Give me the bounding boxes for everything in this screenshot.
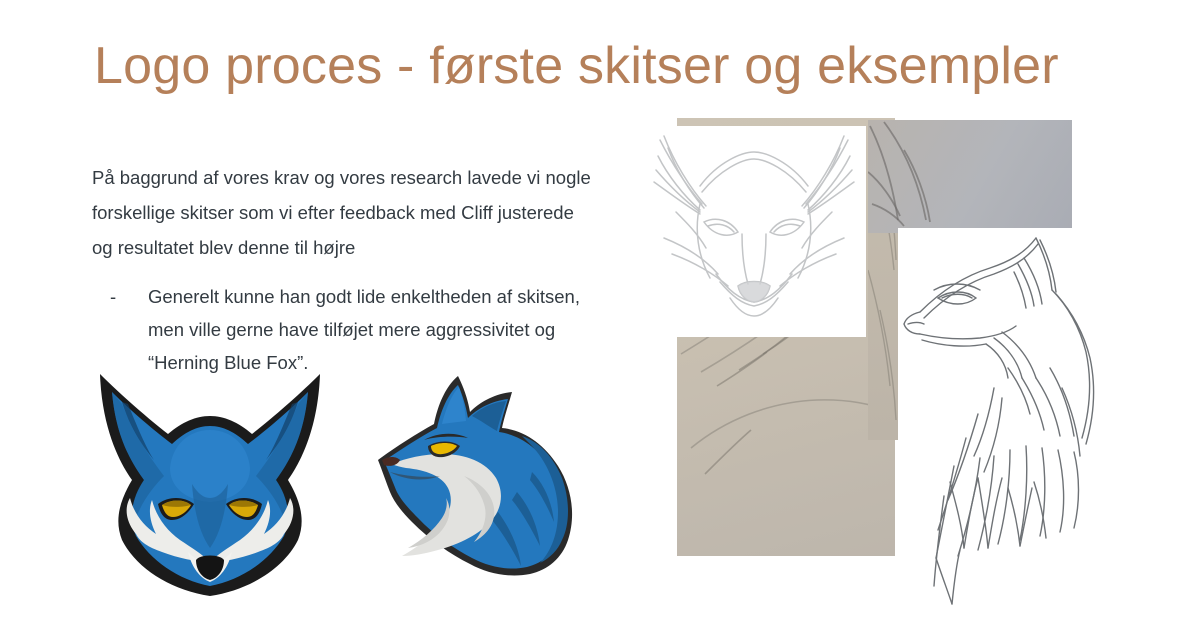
- grey-photo-pencil-lines: [868, 120, 1072, 233]
- presentation-slide: Logo proces - første skitser og eksemple…: [0, 0, 1178, 637]
- fox-front-outline-group: [100, 374, 320, 596]
- intro-paragraph: På baggrund af vores krav og vores resea…: [92, 160, 592, 265]
- fox-profile-pencil-sketch: [898, 228, 1122, 608]
- fox-front-sketch-strokes: [642, 126, 866, 337]
- fox-profile-group: [378, 376, 572, 576]
- fox-head-profile-logo: [372, 372, 594, 594]
- slide-title: Logo proces - første skitser og eksemple…: [94, 36, 1084, 96]
- pencil-sketch-photo-grey: [868, 120, 1072, 233]
- bullet-marker: -: [110, 280, 148, 313]
- fox-profile-sketch-strokes: [898, 228, 1122, 608]
- fox-front-pencil-sketch: [642, 126, 866, 337]
- fox-head-front-logo: [92, 362, 328, 598]
